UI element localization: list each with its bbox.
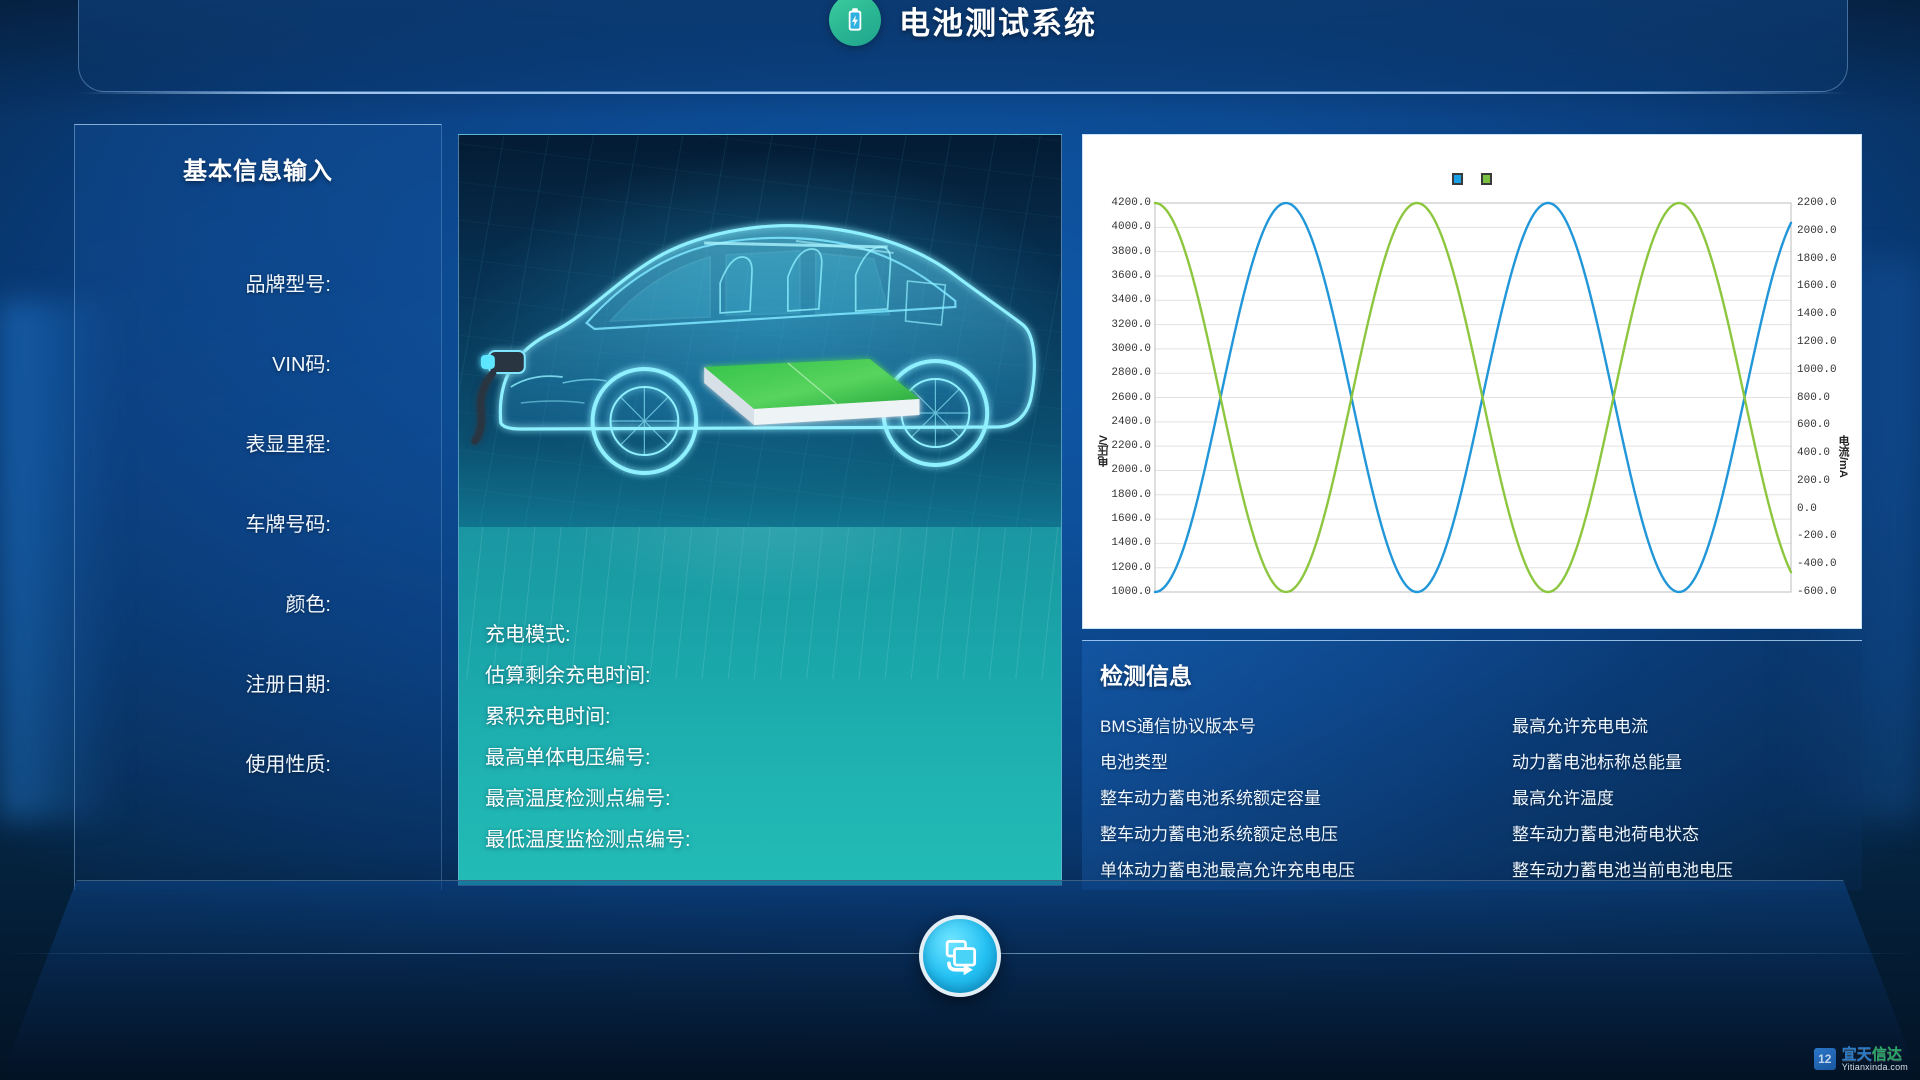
voltage-current-chart[interactable]: 电压/V 电流/mA 4200.04000.03800.03600.03400.… (1082, 134, 1862, 629)
vehicle-charging-panel: 充电模式:估算剩余充电时间:累积充电时间:最高单体电压编号:最高温度检测点编号:… (458, 134, 1062, 886)
y-tick-label: 2600.0 (1105, 393, 1151, 404)
watermark-cn-part1: 宜天 (1842, 1046, 1872, 1063)
y-tick-label: 3200.0 (1105, 320, 1151, 331)
field-label-brand-model: 品牌型号: (245, 268, 331, 297)
detection-info-item: 最高允许充电电流 (1512, 709, 1862, 745)
y-tick-label: 3000.0 (1105, 344, 1151, 355)
y-tick-label: 1800.0 (1105, 490, 1151, 501)
charging-info-area: 充电模式:估算剩余充电时间:累积充电时间:最高单体电压编号:最高温度检测点编号:… (459, 527, 1061, 886)
charge-row-accumulated-charge-time[interactable]: 累积充电时间: (485, 694, 691, 735)
field-label-odometer: 表显里程: (245, 428, 331, 457)
basic-info-panel: 基本信息输入 品牌型号:VIN码:表显里程:车牌号码:颜色:注册日期:使用性质: (74, 124, 442, 890)
charge-label-charge-mode: 充电模式: (485, 618, 571, 647)
sidebar-title: 基本信息输入 (75, 151, 441, 186)
chart-canvas (1083, 135, 1863, 630)
charge-row-max-temperature-probe-number[interactable]: 最高温度检测点编号: (485, 776, 691, 817)
switch-screen-icon (938, 934, 982, 978)
y2-tick-label: 200.0 (1797, 476, 1830, 487)
y2-tick-label: 1000.0 (1797, 365, 1837, 376)
detection-info-item: 整车动力蓄电池系统额定容量 (1100, 781, 1512, 817)
app-title: 电池测试系统 (899, 0, 1097, 43)
y2-tick-label: 2200.0 (1797, 198, 1837, 209)
y-tick-label: 2400.0 (1105, 417, 1151, 428)
header-frame: 电池测试系统 (78, 0, 1848, 92)
detection-info-title: 检测信息 (1100, 657, 1862, 691)
y-tick-label: 2000.0 (1105, 465, 1151, 476)
charge-label-accumulated-charge-time: 累积充电时间: (485, 700, 611, 729)
detection-info-item: 电池类型 (1100, 745, 1512, 781)
detection-info-item: 动力蓄电池标称总能量 (1512, 745, 1862, 781)
y2-tick-label: 1400.0 (1797, 309, 1837, 320)
y-tick-label: 3800.0 (1105, 247, 1151, 258)
y-tick-label: 1600.0 (1105, 514, 1151, 525)
watermark-cn-part2: 信达 (1872, 1046, 1902, 1063)
watermark: 12 宜天信达 Yitianxinda.com (1814, 1047, 1908, 1072)
y2-tick-label: -200.0 (1797, 531, 1837, 542)
field-label-vin-code: VIN码: (272, 348, 331, 377)
field-row-color[interactable]: 颜色: (75, 562, 331, 642)
y2-tick-label: -600.0 (1797, 587, 1837, 598)
y2-tick-label: 600.0 (1797, 420, 1830, 431)
y-tick-label: 3600.0 (1105, 271, 1151, 282)
detection-info-item: BMS通信协议版本号 (1100, 709, 1512, 745)
charging-field-list: 充电模式:估算剩余充电时间:累积充电时间:最高单体电压编号:最高温度检测点编号:… (485, 612, 691, 858)
y-tick-label: 2200.0 (1105, 441, 1151, 452)
y2-tick-label: 1200.0 (1797, 337, 1837, 348)
header-bar: 电池测试系统 (79, 0, 1847, 66)
y-tick-label: 4000.0 (1105, 222, 1151, 233)
field-row-odometer[interactable]: 表显里程: (75, 402, 331, 482)
charge-row-min-temperature-probe-number[interactable]: 最低温度监检测点编号: (485, 817, 691, 858)
watermark-logo-icon: 12 (1814, 1048, 1836, 1070)
y-tick-label: 2800.0 (1105, 368, 1151, 379)
charge-row-estimated-remaining-charge-time[interactable]: 估算剩余充电时间: (485, 653, 691, 694)
charge-row-charge-mode[interactable]: 充电模式: (485, 612, 691, 653)
y2-tick-label: 400.0 (1797, 448, 1830, 459)
y2-tick-label: 1600.0 (1797, 281, 1837, 292)
y-tick-label: 1400.0 (1105, 538, 1151, 549)
basic-info-field-list: 品牌型号:VIN码:表显里程:车牌号码:颜色:注册日期:使用性质: (75, 242, 441, 802)
detection-info-grid: BMS通信协议版本号最高允许充电电流电池类型动力蓄电池标称总能量整车动力蓄电池系… (1100, 709, 1862, 889)
y-tick-label: 1000.0 (1105, 587, 1151, 598)
y-tick-label: 1200.0 (1105, 563, 1151, 574)
field-label-plate-number: 车牌号码: (245, 508, 331, 537)
chart-plot-area: 电压/V 电流/mA 4200.04000.03800.03600.03400.… (1083, 135, 1861, 628)
watermark-text: 宜天信达 Yitianxinda.com (1842, 1047, 1908, 1072)
watermark-en: Yitianxinda.com (1842, 1063, 1908, 1072)
charge-row-max-cell-voltage-number[interactable]: 最高单体电压编号: (485, 735, 691, 776)
y-tick-label: 4200.0 (1105, 198, 1151, 209)
watermark-cn: 宜天信达 (1842, 1047, 1908, 1063)
y2-tick-label: -400.0 (1797, 559, 1837, 570)
y2-tick-label: 0.0 (1797, 504, 1817, 515)
battery-bolt-icon (829, 0, 881, 46)
chart-y2-axis-title: 电流/mA (1835, 435, 1851, 478)
field-label-color: 颜色: (285, 588, 331, 617)
field-row-brand-model[interactable]: 品牌型号: (75, 242, 331, 322)
y2-tick-label: 2000.0 (1797, 226, 1837, 237)
field-row-usage-type[interactable]: 使用性质: (75, 722, 331, 802)
electric-car-illustration (459, 135, 1061, 527)
detection-info-item: 整车动力蓄电池系统额定总电压 (1100, 817, 1512, 853)
y-tick-label: 3400.0 (1105, 295, 1151, 306)
header-divider (78, 92, 1848, 94)
field-row-vin-code[interactable]: VIN码: (75, 322, 331, 402)
switch-screen-button[interactable] (919, 915, 1001, 997)
charge-label-max-cell-voltage-number: 最高单体电压编号: (485, 741, 651, 770)
detection-info-item: 整车动力蓄电池荷电状态 (1512, 817, 1862, 853)
field-row-plate-number[interactable]: 车牌号码: (75, 482, 331, 562)
field-label-usage-type: 使用性质: (245, 748, 331, 777)
charge-label-max-temperature-probe-number: 最高温度检测点编号: (485, 782, 671, 811)
field-row-register-date[interactable]: 注册日期: (75, 642, 331, 722)
charge-label-min-temperature-probe-number: 最低温度监检测点编号: (485, 823, 691, 852)
charge-label-estimated-remaining-charge-time: 估算剩余充电时间: (485, 659, 651, 688)
detection-info-item: 最高允许温度 (1512, 781, 1862, 817)
y2-tick-label: 800.0 (1797, 393, 1830, 404)
detection-info-panel: 检测信息 BMS通信协议版本号最高允许充电电流电池类型动力蓄电池标称总能量整车动… (1082, 640, 1862, 890)
field-label-register-date: 注册日期: (245, 668, 331, 697)
car-wireframe-icon (459, 135, 1061, 527)
y2-tick-label: 1800.0 (1797, 254, 1837, 265)
